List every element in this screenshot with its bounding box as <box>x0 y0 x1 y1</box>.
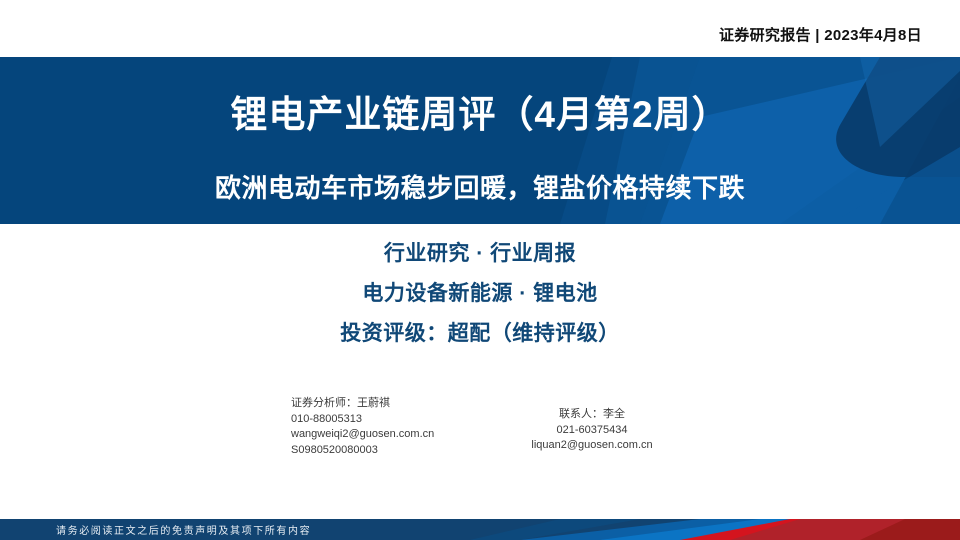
report-header-line: 证券研究报告 | 2023年4月8日 <box>719 24 922 45</box>
meta-sector: 电力设备新能源 · 锂电池 <box>0 283 960 304</box>
assistant-name: 联系人：李全 <box>512 407 672 423</box>
report-meta-block: 行业研究 · 行业周报 电力设备新能源 · 锂电池 投资评级：超配（维持评级） <box>0 243 960 344</box>
title-banner: 锂电产业链周评（4月第2周） 欧洲电动车市场稳步回暖，锂盐价格持续下跌 <box>0 57 960 224</box>
footer-disclaimer: 请务必阅读正文之后的免责声明及其项下所有内容 <box>56 522 311 537</box>
report-cover-slide: 证券研究报告 | 2023年4月8日 锂电产业链周评（4月第2周） 欧洲电动车市… <box>0 0 960 540</box>
analyst-phone: 010-88005313 <box>291 412 434 428</box>
assistant-email[interactable]: liquan2@guosen.com.cn <box>512 438 672 454</box>
assistant-phone: 021-60375434 <box>512 423 672 439</box>
analyst-email[interactable]: wangweiqi2@guosen.com.cn <box>291 427 434 443</box>
contacts-block: 证券分析师：王蔚祺 010-88005313 wangweiqi2@guosen… <box>0 396 960 476</box>
footer-bar: 请务必阅读正文之后的免责声明及其项下所有内容 <box>0 519 960 540</box>
meta-research-type: 行业研究 · 行业周报 <box>0 243 960 264</box>
page-subtitle: 欧洲电动车市场稳步回暖，锂盐价格持续下跌 <box>0 168 960 205</box>
analyst-contact: 证券分析师：王蔚祺 010-88005313 wangweiqi2@guosen… <box>291 396 434 458</box>
meta-investment-rating: 投资评级：超配（维持评级） <box>0 323 960 344</box>
page-title: 锂电产业链周评（4月第2周） <box>0 84 960 138</box>
analyst-name: 证券分析师：王蔚祺 <box>291 396 434 412</box>
assistant-contact: 联系人：李全 021-60375434 liquan2@guosen.com.c… <box>512 407 672 454</box>
analyst-license: S0980520080003 <box>291 443 434 459</box>
